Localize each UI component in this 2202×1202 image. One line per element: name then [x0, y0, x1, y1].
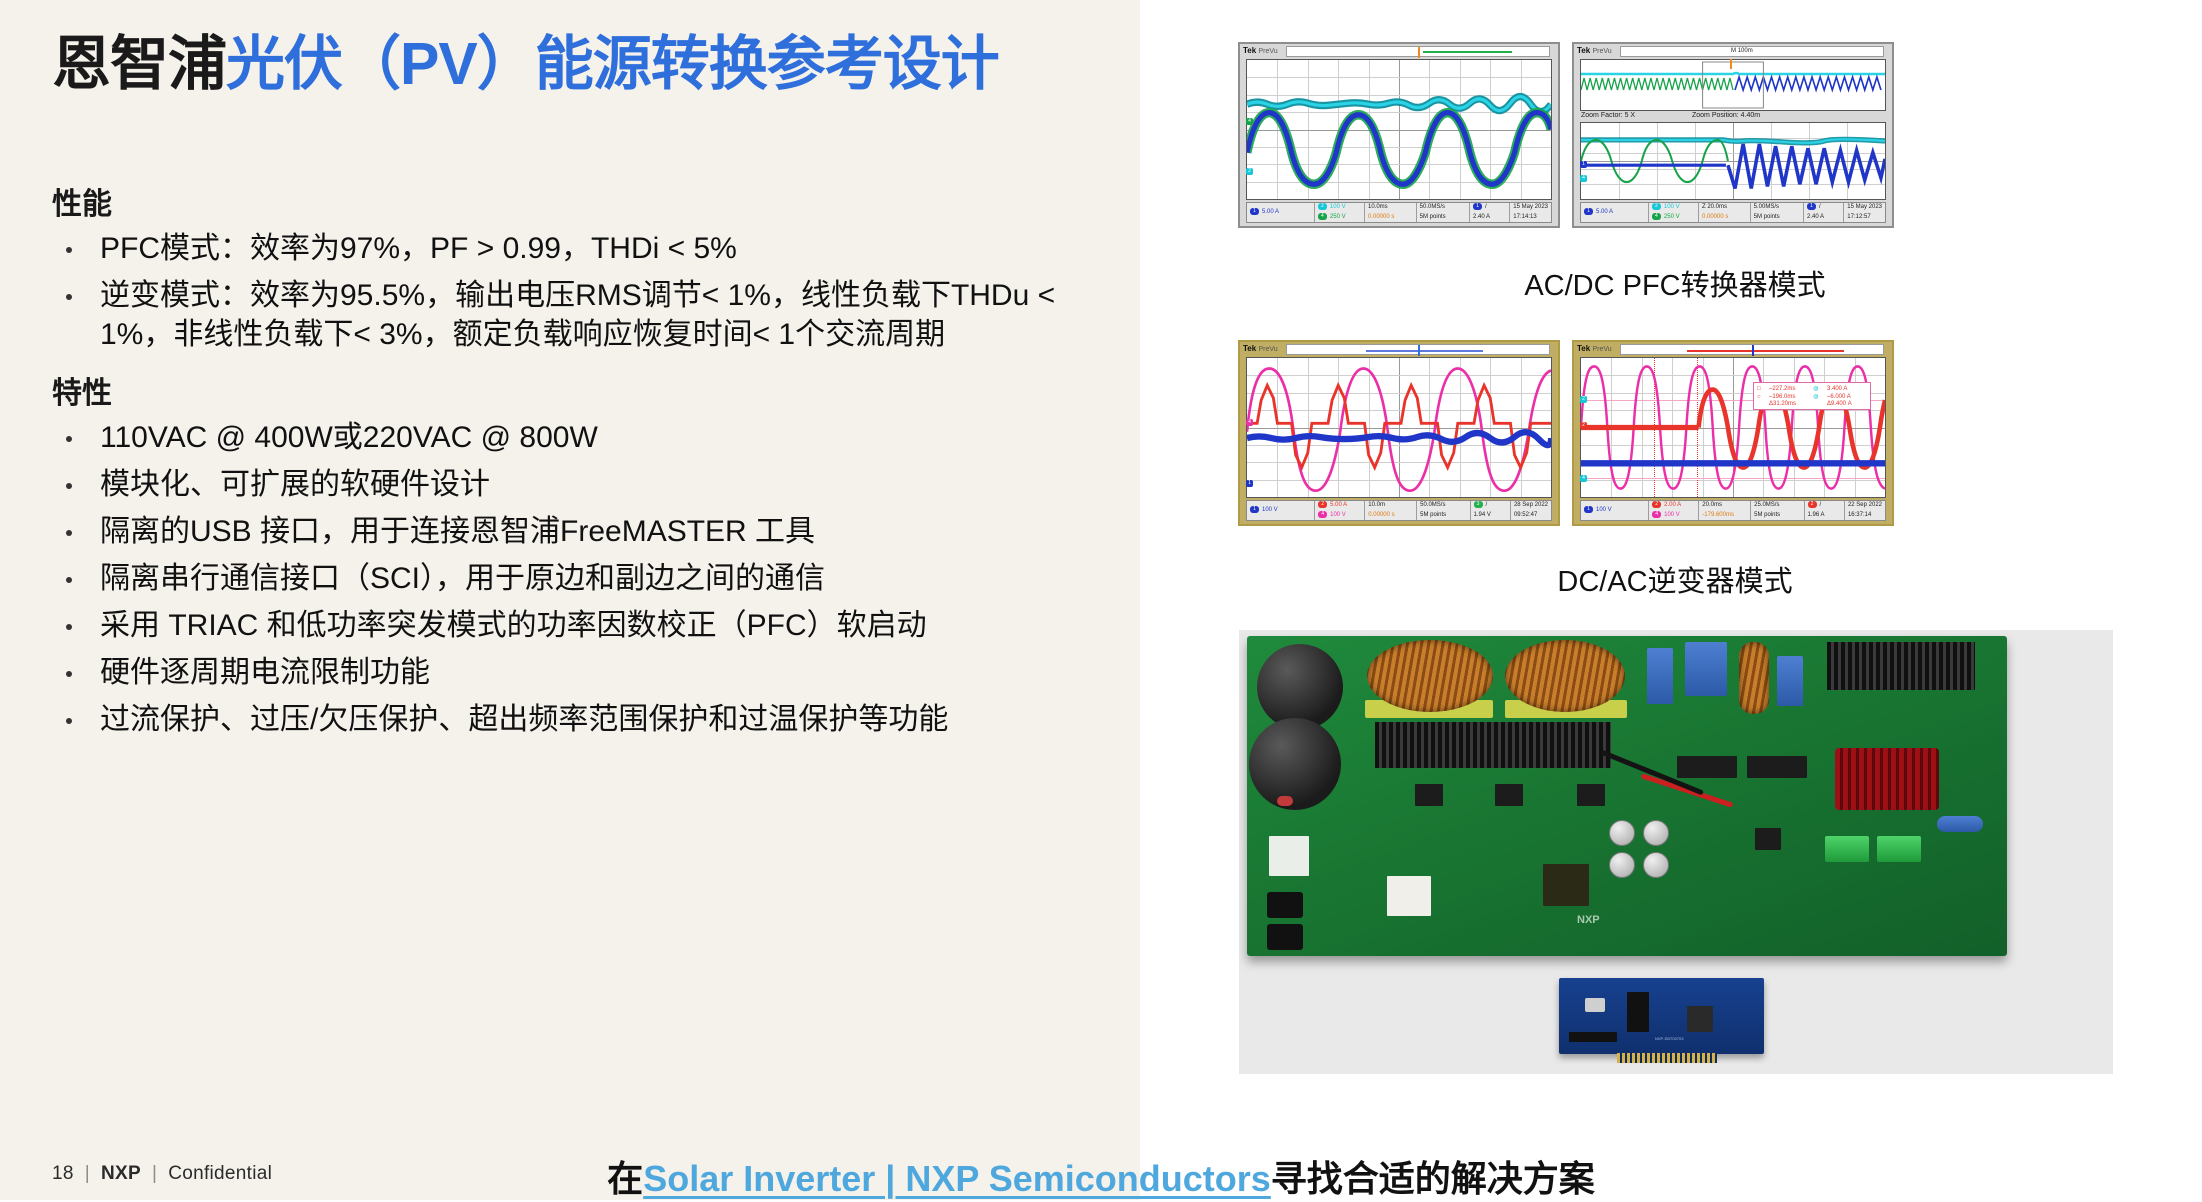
scope-waveforms-zoom: [1581, 123, 1885, 199]
list-item: 110VAC @ 400W或220VAC @ 800W: [52, 418, 1112, 457]
solar-inverter-link[interactable]: Solar Inverter | NXP Semiconductors: [643, 1158, 1271, 1199]
scope-trigger-readout: 2/ 1.96 A: [1805, 501, 1845, 520]
performance-heading: 性能: [52, 179, 1112, 223]
scope-state-label: PreVu: [1258, 346, 1277, 353]
cursor-x1: –227.2ms: [1769, 386, 1811, 392]
scope-status-bar: 1100 V 22.00 A 4100 V 20.0ms -179.600ms …: [1580, 500, 1886, 521]
ic-package: [1495, 784, 1523, 806]
scope-record-bar: M 100m: [1620, 46, 1884, 57]
scope-graticule-zoom: 1 4: [1580, 122, 1886, 200]
scope-cursor-readout: □ –227.2ms ◍ 3.400 A ○ –196.0ms ◍ –6.000…: [1753, 382, 1871, 410]
scope-brand-label: Tek PreVu: [1243, 46, 1278, 55]
scope-zoom-factor-label: Zoom Factor: 5 X: [1581, 112, 1635, 119]
list-item: 过流保护、过压/欠压保护、超出频率范围保护和过温保护等功能: [52, 700, 1112, 739]
scope-overview-window: [1580, 59, 1886, 111]
scope-channel-readouts: 1100 V: [1581, 501, 1649, 520]
usb-connector: [1585, 998, 1605, 1012]
cursor-square-icon: □: [1757, 386, 1767, 392]
list-item: 硬件逐周期电流限制功能: [52, 653, 1112, 692]
scope-channel-readouts-2: 2100 V 4250 V: [1649, 203, 1699, 222]
card-edge-connector: [1677, 756, 1737, 778]
toroidal-inductor: [1367, 640, 1493, 712]
blue-film-capacitor: [1777, 656, 1803, 706]
cursor-y2: –6.000 A: [1827, 394, 1867, 400]
cursor-y1: 3.400 A: [1827, 386, 1867, 392]
scope-acquisition-readout: 50.0MS/s 5M points: [1417, 501, 1470, 520]
caption-inverter-mode: DC/AC逆变器模式: [1148, 558, 2202, 600]
ic-package: [1577, 784, 1605, 806]
ic-package: [1755, 828, 1781, 850]
planar-transformer: [1543, 864, 1589, 906]
electrolytic-capacitor: [1643, 820, 1669, 846]
scope-acquisition-readout: 5.00MS/s 5M points: [1751, 203, 1804, 222]
content-body: 性能 PFC模式：效率为97%，PF > 0.99，THDi < 5% 逆变模式…: [52, 175, 1112, 747]
card-edge-connector: [1747, 756, 1807, 778]
ac-inlet: [1267, 924, 1303, 950]
nxp-silkscreen-logo: NXP: [1577, 914, 1600, 926]
scope-channel-readouts: 1100 V: [1247, 501, 1315, 520]
scope-graticule: 4 1: [1246, 357, 1552, 498]
daughter-card-label: NXP-SBT03703: [1655, 1036, 1683, 1041]
scope-brand-label: Tek PreVu: [1577, 344, 1612, 353]
scope-timestamp: 28 Sep 2022 09:52:47: [1511, 501, 1551, 520]
scope-graticule: 4 2: [1246, 59, 1552, 200]
pfc-scope-row: Tek PreVu: [1238, 42, 1894, 228]
scope-status-bar: 15.00 A 2100 V 4250 V 10.0ms 0.00000 s 5…: [1246, 202, 1552, 223]
electrolytic-capacitor: [1609, 852, 1635, 878]
list-item: PFC模式：效率为97%，PF > 0.99，THDi < 5%: [52, 229, 1112, 268]
footer-cta-prefix: 在: [607, 1158, 643, 1199]
page-title-blue: 光伏（PV）能源转换参考设计: [226, 31, 999, 97]
scope-waveforms: [1247, 358, 1551, 497]
green-terminal-block: [1877, 836, 1921, 862]
scope-timestamp: 22 Sep 2022 16:37:14: [1845, 501, 1885, 520]
blue-film-capacitor: [1937, 816, 1983, 832]
scope-timebase-readout: 20.0ms -179.600ms: [1699, 501, 1751, 520]
features-bullet-list: 110VAC @ 400W或220VAC @ 800W 模块化、可扩展的软硬件设…: [52, 418, 1112, 739]
scope-acquisition-readout: 25.0MS/s 5M points: [1751, 501, 1804, 520]
scope-channel-readouts-2: 2100 V 4250 V: [1315, 203, 1365, 222]
electrolytic-capacitor: [1609, 820, 1635, 846]
scope-channel-readouts: 15.00 A: [1247, 203, 1315, 222]
scope-trigger-readout: 3/ 1.94 V: [1471, 501, 1511, 520]
ic-package: [1415, 784, 1443, 806]
performance-bullet-list: PFC模式：效率为97%，PF > 0.99，THDi < 5% 逆变模式：效率…: [52, 229, 1112, 354]
page-title-black: 恩智浦: [52, 31, 226, 97]
scope-screenshot-pfc-transient: Tek PreVu M 100m Zoom Factor: 5 X Zoom P…: [1572, 42, 1894, 228]
scope-status-bar: 15.00 A 2100 V 4250 V Z 20.0ms 0.00000 s…: [1580, 202, 1886, 223]
scope-timestamp: 15 May 2023 17:14:13: [1510, 203, 1551, 222]
red-led: [1277, 796, 1293, 806]
output-inductor: [1835, 748, 1939, 810]
scope-graticule: □ –227.2ms ◍ 3.400 A ○ –196.0ms ◍ –6.000…: [1580, 357, 1886, 498]
scope-state-label: PreVu: [1258, 48, 1277, 55]
scope-screenshot-pfc-steady: Tek PreVu: [1238, 42, 1560, 228]
scope-state-label: PreVu: [1592, 48, 1611, 55]
list-item: 逆变模式：效率为95.5%，输出电压RMS调节< 1%，线性负载下THDu < …: [52, 276, 1112, 354]
scope-timebase-readout: 10.0ms 0.00000 s: [1365, 203, 1417, 222]
scope-record-bar: [1286, 46, 1550, 57]
scope-acquisition-readout: 50.0MS/s 5M points: [1417, 203, 1470, 222]
list-item: 模块化、可扩展的软硬件设计: [52, 465, 1112, 504]
reference-board-photo: NXP NXP-SBT03703: [1239, 630, 2113, 1074]
electrolytic-capacitor: [1643, 852, 1669, 878]
list-item: 隔离的USB 接口，用于连接恩智浦FreeMASTER 工具: [52, 512, 1112, 551]
scope-timebase-readout: Z 20.0ms 0.00000 s: [1699, 203, 1751, 222]
scope-trigger-readout: 1/ 2.40 A: [1470, 203, 1510, 222]
green-terminal-block: [1825, 836, 1869, 862]
mcu-package: [1687, 1006, 1713, 1032]
heatsink: [1827, 642, 1975, 690]
cursor-x2: –196.0ms: [1769, 394, 1811, 400]
bulk-capacitor: [1257, 644, 1343, 730]
cursor-marker-b-icon: ◍: [1813, 393, 1825, 400]
scope-timebase-readout: 10.0m 0.00000 s: [1365, 501, 1417, 520]
scope-state-label: PreVu: [1592, 346, 1611, 353]
scope-channel-readouts-2: 25.00 A 4100 V: [1315, 501, 1365, 520]
scope-main-timebase-label: M 100m: [1731, 48, 1753, 54]
blue-film-capacitor: [1685, 642, 1727, 696]
scope-status-bar: 1100 V 25.00 A 4100 V 10.0m 0.00000 s 50…: [1246, 500, 1552, 521]
scope-waveforms: [1581, 358, 1885, 497]
scope-channel-readouts-2: 22.00 A 4100 V: [1649, 501, 1699, 520]
pcb-main-board: NXP: [1247, 636, 2007, 956]
list-item: 隔离串行通信接口（SCI），用于原边和副边之间的通信: [52, 559, 1112, 598]
pcb-daughter-card: NXP-SBT03703: [1559, 978, 1764, 1054]
inverter-scope-row: Tek PreVu 4: [1238, 340, 1894, 526]
red-wire: [1641, 773, 1734, 807]
scope-screenshot-inverter-step-load: Tek PreVu: [1572, 340, 1894, 526]
scope-zoom-position-label: Zoom Position: 4.40m: [1692, 112, 1760, 119]
list-item: 采用 TRIAC 和低功率突发模式的功率因数校正（PFC）软启动: [52, 606, 1112, 645]
scope-record-bar: [1620, 344, 1884, 355]
bulk-capacitor: [1249, 718, 1341, 810]
scope-trigger-readout: 1/ 2.40 A: [1804, 203, 1844, 222]
footer-cta: 在Solar Inverter | NXP Semiconductors寻找合适…: [0, 1150, 2202, 1202]
cursor-delta-x: Δ31.20ms: [1769, 401, 1811, 407]
common-mode-choke: [1739, 642, 1769, 714]
scope-brand-label: Tek PreVu: [1243, 344, 1278, 353]
pin-header: [1569, 1032, 1617, 1042]
transformer: [1387, 876, 1431, 916]
toroidal-inductor: [1505, 640, 1625, 712]
cursor-circle-icon: ○: [1757, 394, 1767, 400]
features-heading: 特性: [52, 368, 1112, 412]
cursor-delta-y: Δ9.400 A: [1827, 401, 1867, 407]
scope-channel-readouts: 15.00 A: [1581, 203, 1649, 222]
ac-inlet: [1267, 892, 1303, 918]
scope-screenshot-inverter-nonlinear: Tek PreVu 4: [1238, 340, 1560, 526]
page-title: 恩智浦光伏（PV）能源转换参考设计: [52, 32, 1132, 97]
caption-pfc-mode: AC/DC PFC转换器模式: [1148, 262, 2202, 304]
scope-record-bar: [1286, 344, 1550, 355]
scope-waveforms: [1247, 60, 1551, 199]
scope-timestamp: 15 May 2023 17:12:57: [1844, 203, 1885, 222]
footer-cta-suffix: 寻找合适的解决方案: [1271, 1158, 1595, 1199]
blue-film-capacitor: [1647, 648, 1673, 704]
cursor-marker-a-icon: ◍: [1813, 385, 1825, 392]
screw-terminal: [1269, 836, 1309, 876]
heatsink: [1375, 722, 1611, 768]
scope-brand-label: Tek PreVu: [1577, 46, 1612, 55]
ic-package: [1627, 992, 1649, 1032]
